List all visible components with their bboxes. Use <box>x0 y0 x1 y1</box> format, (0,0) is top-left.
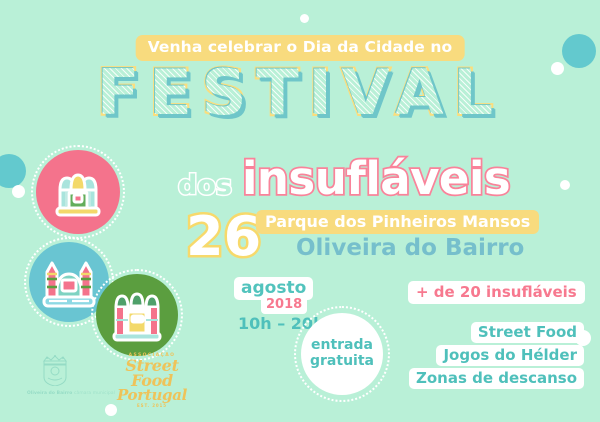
decorative-circle <box>560 180 570 190</box>
venue-name: Parque dos Pinheiros Mansos <box>256 210 539 234</box>
bouncy-castle-icon <box>36 150 120 234</box>
bouncy-castle-icon <box>96 274 178 356</box>
bouncy-castle-coral-badge <box>36 150 120 234</box>
free-entry-badge: entrada gratuita <box>301 313 383 395</box>
page-title: FESTIVAL <box>97 62 503 124</box>
event-poster: Venha celebrar o Dia da Cidade no FESTIV… <box>0 0 600 422</box>
subtitle-main: insufláveis <box>242 152 510 205</box>
decorative-circle <box>562 34 596 68</box>
coat-of-arms-icon <box>27 352 83 386</box>
free-entry-line-1: entrada <box>311 338 373 354</box>
street-food-portugal-logo: ASSOCIAÇÃO Street Food Portugal EST. 201… <box>110 353 194 408</box>
free-entry-line-2: gratuita <box>310 354 374 370</box>
council-title: Oliveira do Bairro <box>27 391 72 396</box>
features-list: Street Food Jogos do Hélder Zonas de des… <box>409 322 584 389</box>
council-subtitle: câmara municipal <box>74 391 115 396</box>
council-name: Oliveira do Bairro câmara municipal <box>27 391 83 396</box>
event-year: 2018 <box>261 296 307 314</box>
decorative-circle <box>551 62 564 75</box>
decorative-circle <box>12 185 25 198</box>
venue-city: Oliveira do Bairro <box>296 235 524 261</box>
feature-item: Street Food <box>471 322 584 343</box>
decorative-circle <box>300 14 309 23</box>
council-logo: Oliveira do Bairro câmara municipal <box>27 352 83 396</box>
streetfood-line-2: Portugal <box>110 388 194 402</box>
streetfood-line-1: Street Food <box>110 358 194 388</box>
subtitle-prefix: dos <box>178 170 232 201</box>
subtitle: dosinsufláveis <box>178 152 510 205</box>
bouncy-castle-green-badge <box>96 274 178 356</box>
feature-item: Zonas de descanso <box>409 368 584 389</box>
feature-item: Jogos do Hélder <box>436 345 584 366</box>
decorative-circle <box>0 154 26 188</box>
event-day: 26 <box>186 210 261 264</box>
inflatables-count-badge: + de 20 insufláveis <box>408 281 585 304</box>
